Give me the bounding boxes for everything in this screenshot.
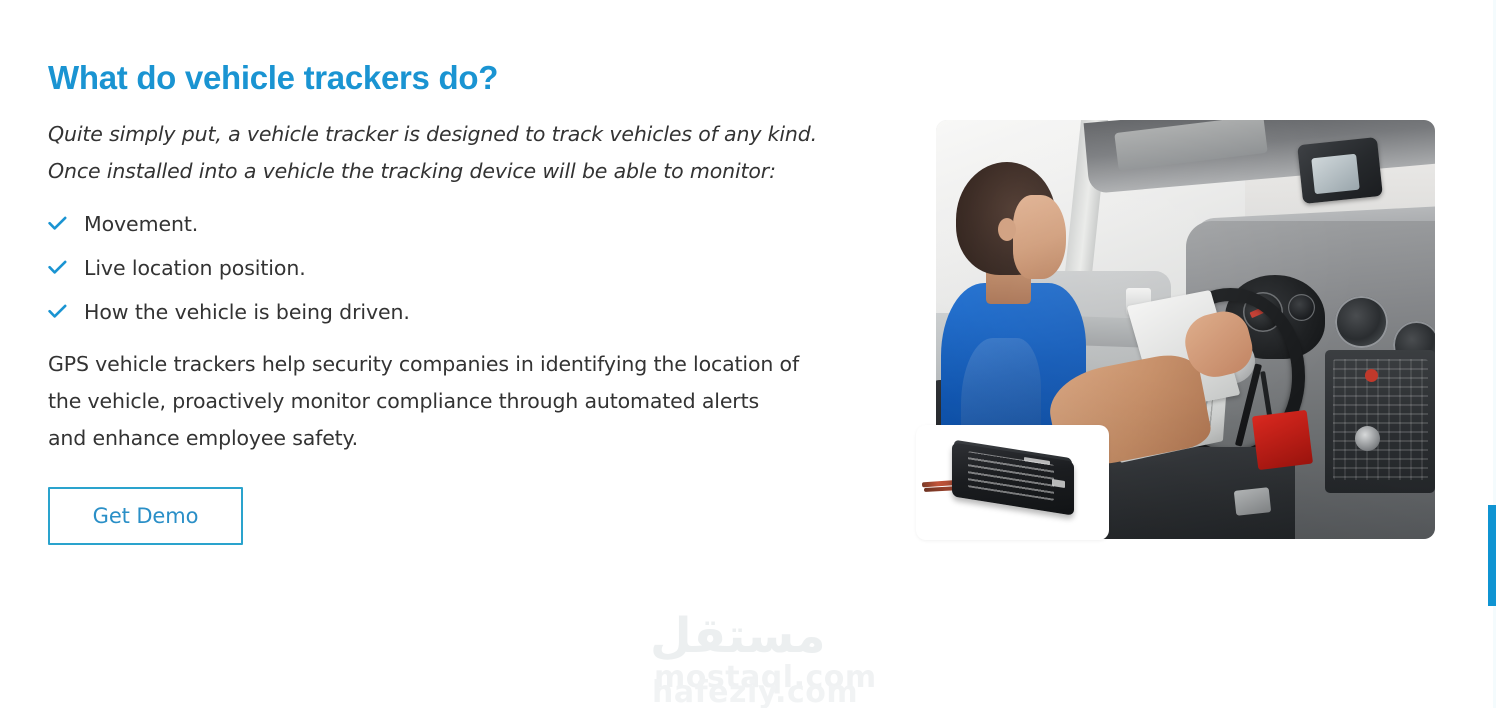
list-item: Live location position. xyxy=(48,256,838,284)
list-item: How the vehicle is being driven. xyxy=(48,300,838,328)
check-icon xyxy=(48,212,68,236)
scrollbar-thumb[interactable] xyxy=(1488,505,1496,606)
watermark-domain-secondary: hafeziy.com xyxy=(652,675,858,708)
page-root: What do vehicle trackers do? Quite simpl… xyxy=(0,0,1496,708)
list-item-label: How the vehicle is being driven. xyxy=(84,300,410,324)
list-item: Movement. xyxy=(48,212,838,240)
media-column xyxy=(916,118,1438,558)
content-column: What do vehicle trackers do? Quite simpl… xyxy=(48,58,838,545)
body-paragraph: GPS vehicle trackers help security compa… xyxy=(48,346,803,457)
get-demo-button[interactable]: Get Demo xyxy=(48,487,243,545)
list-item-label: Movement. xyxy=(84,212,198,236)
watermark: مستقل mostaql.com hafeziy.com xyxy=(640,612,900,702)
lead-paragraph: Quite simply put, a vehicle tracker is d… xyxy=(48,116,823,190)
check-icon xyxy=(48,256,68,280)
list-item-label: Live location position. xyxy=(84,256,306,280)
watermark-arabic-text: مستقل xyxy=(650,608,826,664)
tracker-device-inset xyxy=(916,425,1109,540)
feature-list: Movement. Live location position. How th… xyxy=(48,212,838,328)
check-icon xyxy=(48,300,68,324)
page-title: What do vehicle trackers do? xyxy=(48,58,838,98)
watermark-domain-primary: mostaql.com xyxy=(654,660,877,695)
